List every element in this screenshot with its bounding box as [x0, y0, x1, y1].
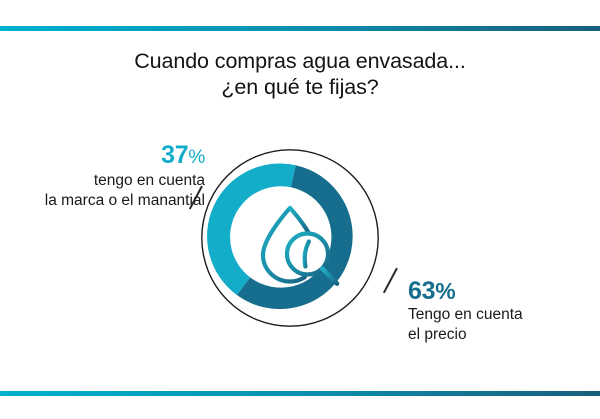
top-accent-rule — [0, 26, 600, 31]
callout-precio: 63% Tengo en cuenta el precio — [408, 278, 593, 344]
title-line-1: Cuando compras agua envasada... — [0, 48, 600, 74]
page-title: Cuando compras agua envasada... ¿en qué … — [0, 48, 600, 100]
callout-precio-line-2: el precio — [408, 325, 593, 345]
callout-description-precio: Tengo en cuenta el precio — [408, 305, 593, 344]
percent-number-precio: 63 — [408, 277, 435, 305]
callout-precio-line-1: Tengo en cuenta — [408, 305, 593, 325]
percent-sign-marca: % — [188, 147, 205, 168]
callout-marca-line-1: tengo en cuenta — [10, 171, 205, 191]
callout-marca-line-2: la marca o el manantial — [10, 191, 205, 211]
donut-chart — [200, 148, 380, 328]
percent-value-precio: 63% — [408, 278, 593, 305]
bottom-accent-rule — [0, 391, 600, 396]
percent-number-marca: 37 — [161, 141, 188, 169]
percent-sign-precio: % — [435, 278, 455, 304]
percent-value-marca: 37% — [10, 142, 205, 171]
infographic-canvas: Cuando compras agua envasada... ¿en qué … — [0, 0, 600, 419]
callout-marca: 37% tengo en cuenta la marca o el manant… — [10, 142, 205, 210]
title-line-2: ¿en qué te fijas? — [0, 74, 600, 100]
callout-description-marca: tengo en cuenta la marca o el manantial — [10, 171, 205, 210]
leader-line-right-icon — [383, 268, 397, 293]
